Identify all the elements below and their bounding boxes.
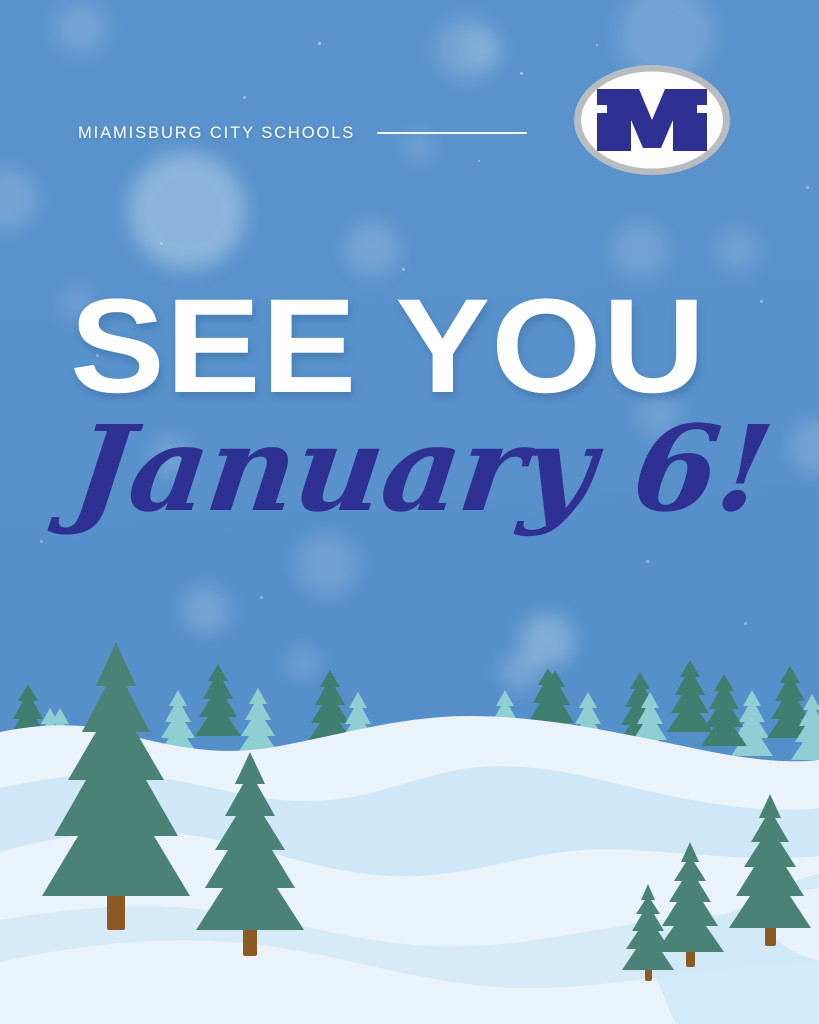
winter-landscape [0,620,819,1024]
organization-name: MIAMISBURG CITY SCHOOLS [78,124,355,143]
poster-canvas: MIAMISBURG CITY SCHOOLS SEE YOU January … [0,0,819,1024]
headline-see-you: SEE YOU [70,286,812,408]
header-divider-rule [377,132,527,134]
headline-script-date: January 6! [66,404,819,534]
school-logo [573,64,731,176]
brand-line: MIAMISBURG CITY SCHOOLS [78,112,527,154]
